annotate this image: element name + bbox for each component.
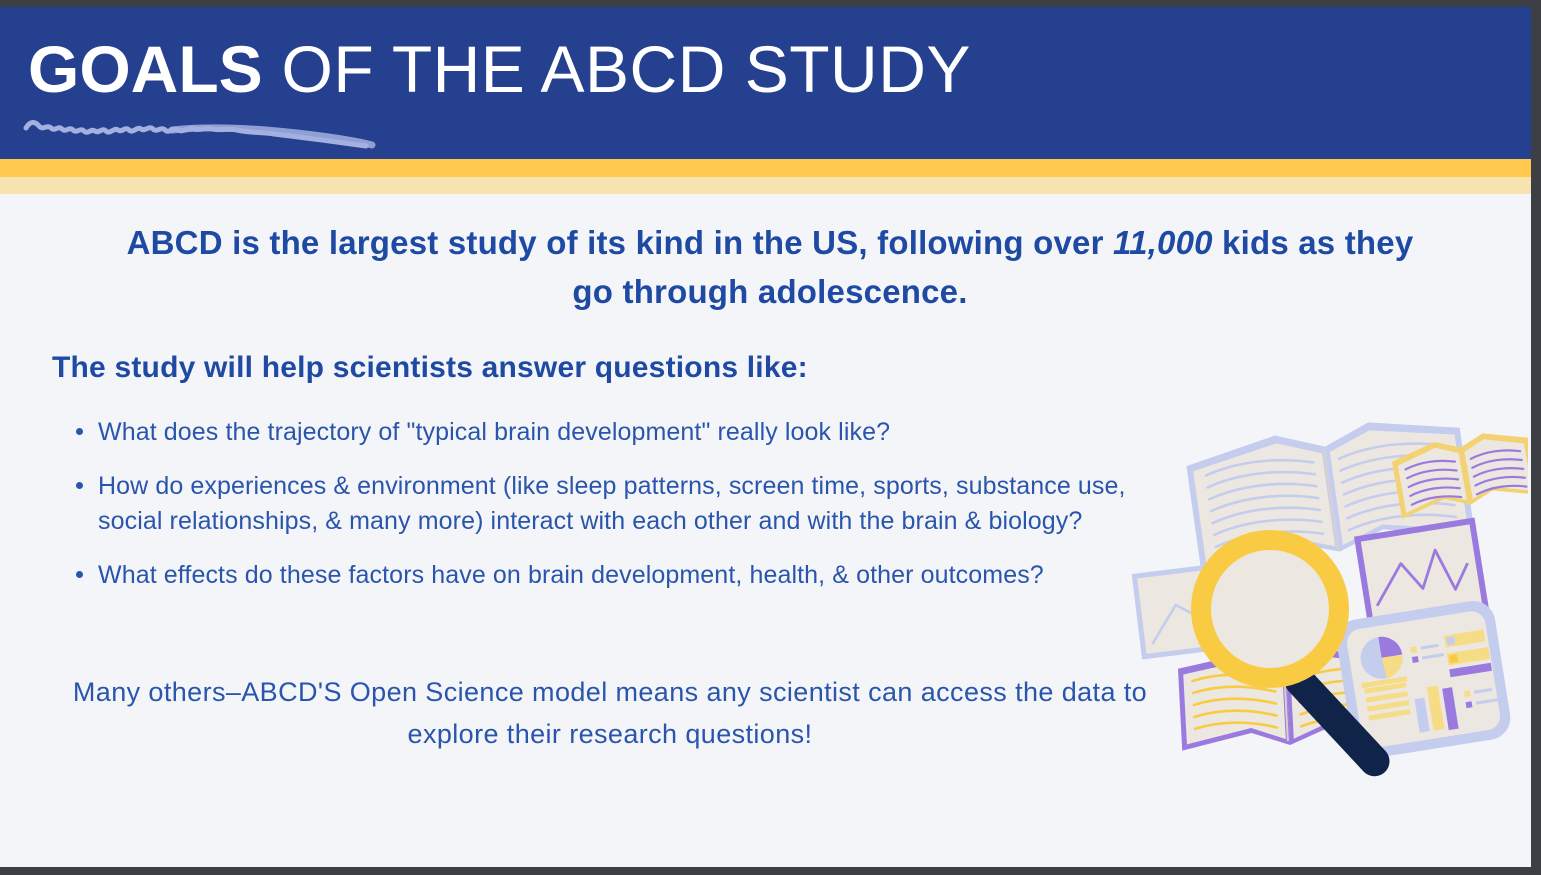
lede-paragraph: ABCD is the largest study of its kind in… bbox=[110, 219, 1430, 317]
page-title-rest: OF THE ABCD STUDY bbox=[263, 32, 971, 106]
gold-light-divider-band bbox=[0, 177, 1531, 194]
list-item-text: What does the trajectory of "typical bra… bbox=[98, 418, 890, 446]
list-item: How do experiences & environment (like s… bbox=[62, 469, 1152, 538]
bullet-dot-icon bbox=[76, 428, 83, 435]
slide-canvas: GOALS OF THE ABCD STUDY ABCD is the larg… bbox=[0, 7, 1531, 868]
frame-edge-top bbox=[0, 0, 1541, 7]
slide-header: GOALS OF THE ABCD STUDY bbox=[0, 7, 1531, 159]
bullet-dot-icon bbox=[76, 482, 83, 489]
list-item-text: What effects do these factors have on br… bbox=[98, 561, 1044, 589]
questions-list: What does the trajectory of "typical bra… bbox=[62, 415, 1152, 612]
research-illustration bbox=[1128, 405, 1528, 825]
lede-emphasis: 11,000 bbox=[1113, 224, 1213, 261]
list-item-text: How do experiences & environment (like s… bbox=[98, 472, 1126, 534]
list-item: What effects do these factors have on br… bbox=[62, 558, 1152, 592]
frame-edge-right bbox=[1531, 0, 1541, 875]
section-subheading: The study will help scientists answer qu… bbox=[52, 351, 808, 385]
page-title-strong: GOALS bbox=[28, 32, 263, 106]
slide-root: GOALS OF THE ABCD STUDY ABCD is the larg… bbox=[0, 0, 1541, 875]
frame-edge-bottom bbox=[0, 867, 1541, 875]
gold-divider-band bbox=[0, 159, 1531, 177]
bullet-dot-icon bbox=[76, 571, 83, 578]
list-item: What does the trajectory of "typical bra… bbox=[62, 415, 1152, 449]
squiggle-underline-icon bbox=[22, 115, 402, 149]
page-title: GOALS OF THE ABCD STUDY bbox=[28, 36, 971, 102]
closing-statement: Many others–ABCD'S Open Science model me… bbox=[60, 672, 1160, 756]
lede-part1: ABCD is the largest study of its kind in… bbox=[127, 224, 1113, 261]
